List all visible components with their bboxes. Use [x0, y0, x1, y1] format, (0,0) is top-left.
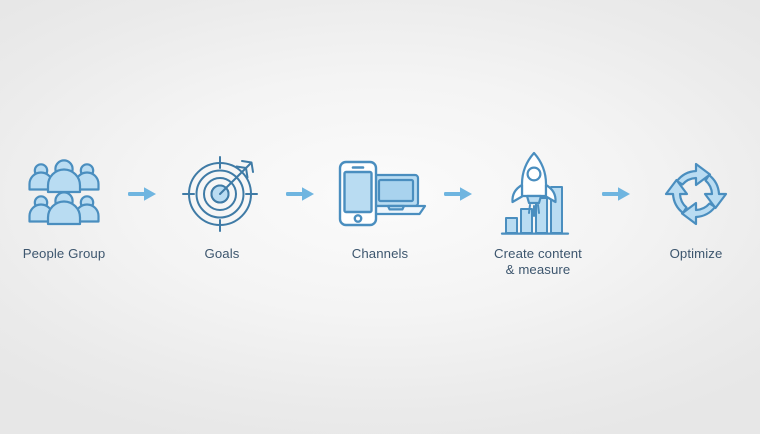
step-label-channels: Channels	[352, 246, 409, 262]
step-create-content[interactable]: Create content & measure	[482, 150, 594, 277]
phone-laptop-icon	[332, 150, 428, 238]
step-optimize[interactable]: Optimize	[640, 150, 752, 262]
diagram-canvas: People Group	[0, 0, 760, 434]
step-label-goals: Goals	[205, 246, 240, 262]
step-label-people-group: People Group	[23, 246, 106, 262]
step-label-create-content: Create content & measure	[494, 246, 582, 277]
arrow-right-icon	[594, 150, 640, 238]
step-goals[interactable]: Goals	[166, 150, 278, 262]
process-flow: People Group	[0, 150, 760, 295]
arrow-right-icon	[120, 150, 166, 238]
step-channels[interactable]: Channels	[324, 150, 436, 262]
people-group-icon	[16, 150, 112, 238]
cycle-arrows-icon	[648, 150, 744, 238]
arrow-right-icon	[278, 150, 324, 238]
step-label-optimize: Optimize	[670, 246, 723, 262]
rocket-bar-chart-icon	[490, 150, 586, 238]
target-arrow-icon	[174, 150, 270, 238]
step-people-group[interactable]: People Group	[8, 150, 120, 262]
arrow-right-icon	[436, 150, 482, 238]
